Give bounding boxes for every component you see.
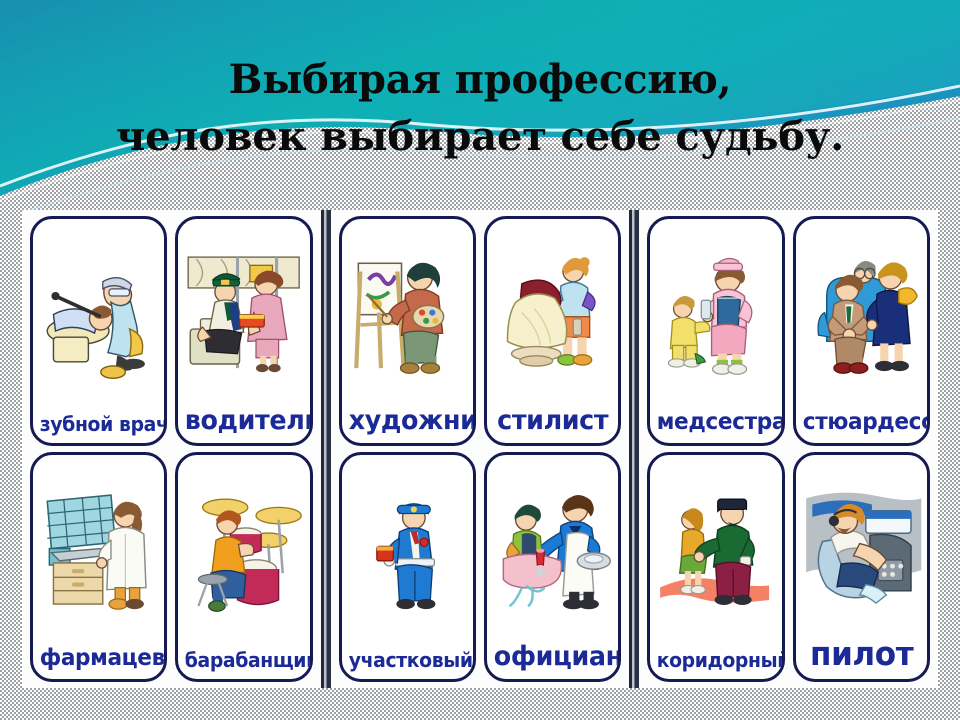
profession-card-pharmacist[interactable]: фармацевт xyxy=(30,452,167,682)
profession-card-driver[interactable]: водитель xyxy=(175,216,312,446)
title-line-1: Выбирая профессию, xyxy=(0,52,960,109)
card-group-3: медсестра xyxy=(639,210,938,688)
card-label: участковый xyxy=(346,648,469,679)
profession-card-bellhop[interactable]: коридорный xyxy=(647,452,784,682)
card-label: официант xyxy=(491,641,614,679)
card-group-1: зубной врач xyxy=(22,210,321,688)
card-label: медсестра xyxy=(654,409,777,443)
profession-card-pilot[interactable]: пилот xyxy=(793,452,930,682)
card-label: пилот xyxy=(800,635,923,679)
profession-card-nurse[interactable]: медсестра xyxy=(647,216,784,446)
profession-card-stewardess[interactable]: стюардесса xyxy=(793,216,930,446)
card-label: стилист xyxy=(491,405,614,443)
title-line-2: человек выбирает себе судьбу. xyxy=(0,109,960,166)
bus-driver-illustration xyxy=(178,219,309,405)
profession-card-policeman[interactable]: участковый xyxy=(339,452,476,682)
profession-cards-panel: зубной врач xyxy=(22,210,938,688)
profession-card-drummer[interactable]: барабанщик xyxy=(175,452,312,682)
card-group-2: художник xyxy=(331,210,630,688)
profession-card-waiter[interactable]: официант xyxy=(484,452,621,682)
card-label: зубной врач xyxy=(37,412,160,443)
dentist-illustration xyxy=(33,219,164,412)
card-label: фармацевт xyxy=(37,645,160,679)
stewardess-illustration xyxy=(796,219,927,409)
group-divider-2 xyxy=(629,210,639,688)
card-label: водитель xyxy=(182,405,305,443)
policeman-illustration xyxy=(342,455,473,648)
card-label: барабанщик xyxy=(182,648,305,679)
hair-stylist-illustration xyxy=(487,219,618,405)
profession-card-painter[interactable]: художник xyxy=(339,216,476,446)
card-label: коридорный xyxy=(654,648,777,679)
drummer-illustration xyxy=(178,455,309,648)
profession-card-stylist[interactable]: стилист xyxy=(484,216,621,446)
slide-title: Выбирая профессию, человек выбирает себе… xyxy=(0,52,960,166)
group-divider-1 xyxy=(321,210,331,688)
waiter-illustration xyxy=(487,455,618,641)
card-label: стюардесса xyxy=(800,409,923,443)
card-label: художник xyxy=(346,405,469,443)
bellhop-illustration xyxy=(650,455,781,648)
painter-illustration xyxy=(342,219,473,405)
slide-root: Выбирая профессию, человек выбирает себе… xyxy=(0,0,960,720)
profession-card-dentist[interactable]: зубной врач xyxy=(30,216,167,446)
pharmacist-illustration xyxy=(33,455,164,645)
nurse-illustration xyxy=(650,219,781,409)
pilot-illustration xyxy=(796,455,927,635)
